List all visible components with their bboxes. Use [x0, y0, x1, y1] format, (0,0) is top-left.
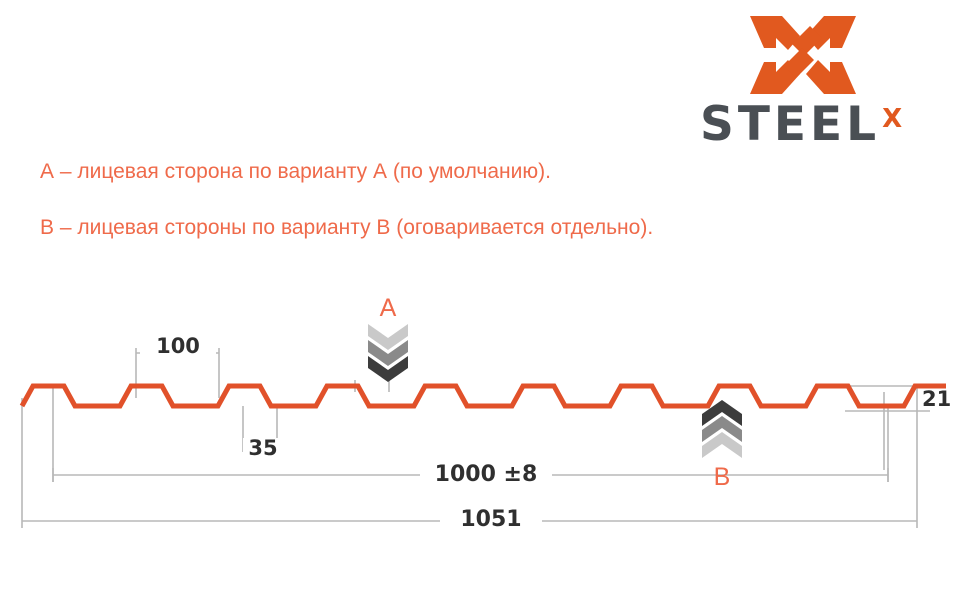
dimension-label-total-width: 1051: [440, 509, 542, 531]
dimension-label-working-width: 1000 ±8: [420, 464, 552, 486]
marker-b-chevrons: [694, 400, 750, 458]
profile-technical-drawing: [0, 0, 970, 593]
marker-a-label: А: [360, 296, 416, 321]
technical-drawing-page: STEEL X А – лицевая сторона по варианту …: [0, 0, 970, 593]
marker-a-chevrons: [360, 324, 416, 382]
marker-variant-b: В: [694, 400, 750, 486]
sheet-profile-polyline: [22, 386, 946, 406]
dimension-label-height: 21: [922, 389, 956, 410]
dimension-label-pitch: 100: [140, 336, 216, 357]
dimension-label-valley: 35: [243, 438, 283, 459]
marker-b-label: В: [694, 465, 750, 490]
dimension-lines-group: [22, 348, 930, 528]
marker-variant-a: А: [360, 296, 416, 382]
